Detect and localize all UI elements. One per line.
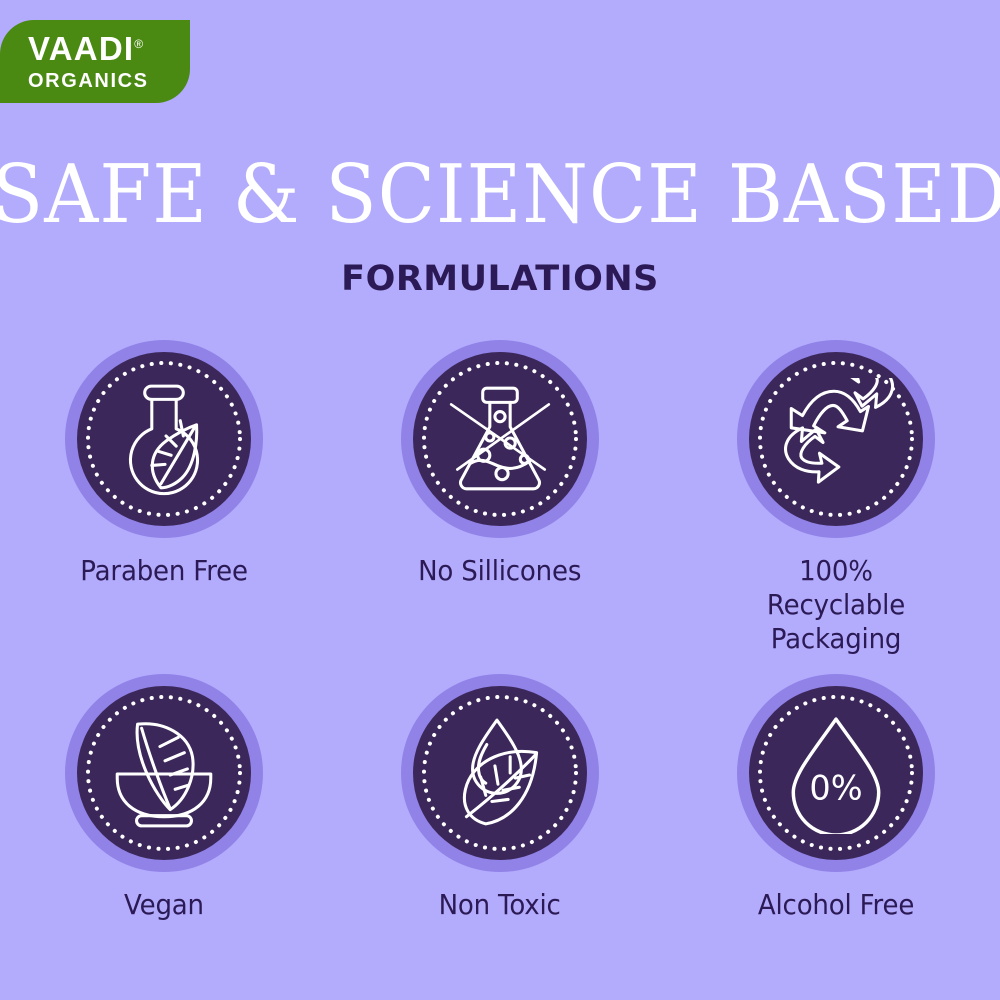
feature-row-bottom: Vegan bbox=[0, 674, 1000, 922]
feature-item-paraben-free: Paraben Free bbox=[48, 340, 280, 588]
page-title: SAFE & SCIENCE BASED bbox=[0, 158, 1000, 230]
brand-tagline: ORGANICS bbox=[28, 71, 190, 91]
bowl-with-leaf-icon bbox=[103, 712, 225, 834]
zero-percent-text: 0% bbox=[809, 769, 862, 808]
feature-item-non-toxic: Non Toxic bbox=[384, 674, 616, 922]
badge-disc bbox=[77, 352, 251, 526]
feature-item-alcohol-free: 0% Alcohol Free bbox=[720, 674, 952, 922]
feature-label: Vegan bbox=[124, 888, 204, 922]
brand-name: VAADI® bbox=[28, 32, 190, 65]
feature-label: 100% Recyclable Packaging bbox=[728, 554, 944, 656]
feature-label: No Sillicones bbox=[418, 554, 581, 588]
registered-trademark-icon: ® bbox=[134, 37, 143, 51]
page-subtitle: FORMULATIONS bbox=[0, 262, 1000, 297]
feature-item-vegan: Vegan bbox=[48, 674, 280, 922]
badge-disc bbox=[413, 686, 587, 860]
page-title-text: SAFE & SCIENCE BASED bbox=[0, 154, 1000, 235]
feature-label: Paraben Free bbox=[80, 554, 248, 588]
badge-ring bbox=[65, 674, 263, 872]
badge-ring bbox=[65, 340, 263, 538]
badge-ring bbox=[401, 674, 599, 872]
feature-item-recyclable-packaging: 100% Recyclable Packaging bbox=[720, 340, 952, 656]
feature-label: Non Toxic bbox=[439, 888, 561, 922]
feature-label: Alcohol Free bbox=[758, 888, 914, 922]
feature-item-no-sillicones: No Sillicones bbox=[384, 340, 616, 588]
feature-row-top: Paraben Free bbox=[0, 340, 1000, 656]
droplet-zero-percent-icon: 0% bbox=[775, 712, 897, 834]
badge-ring: 0% bbox=[737, 674, 935, 872]
brand-name-text: VAADI bbox=[28, 30, 134, 67]
badge-disc bbox=[413, 352, 587, 526]
crossed-out-erlenmeyer-flask-icon bbox=[439, 378, 561, 500]
badge-disc bbox=[77, 686, 251, 860]
feature-badge-grid: Paraben Free bbox=[0, 340, 1000, 923]
recycle-icon bbox=[775, 378, 897, 500]
badge-disc: 0% bbox=[749, 686, 923, 860]
badge-disc bbox=[749, 352, 923, 526]
badge-ring bbox=[737, 340, 935, 538]
round-flask-leaf-icon bbox=[103, 378, 225, 500]
badge-ring bbox=[401, 340, 599, 538]
brand-logo: VAADI® ORGANICS bbox=[0, 20, 190, 103]
droplet-with-leaf-icon bbox=[439, 712, 561, 834]
